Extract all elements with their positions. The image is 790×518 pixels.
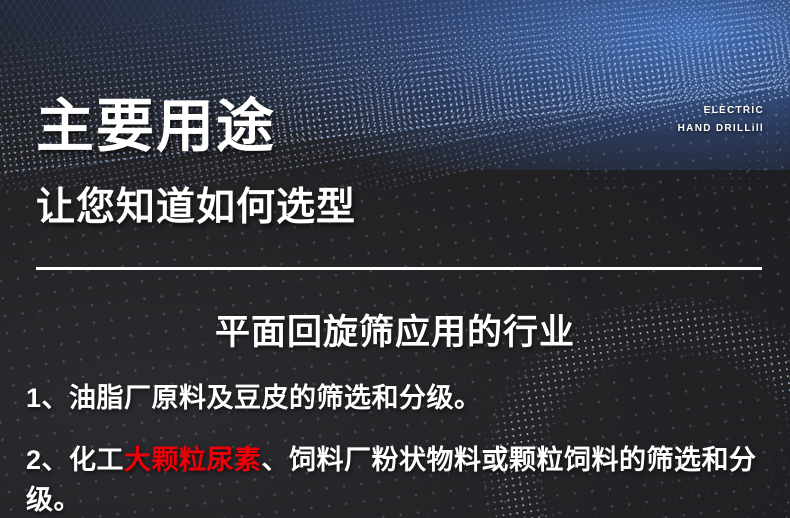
list-item: 1、油脂厂原料及豆皮的筛选和分级。 [26, 378, 772, 418]
horizontal-divider [36, 267, 762, 270]
application-list: 1、油脂厂原料及豆皮的筛选和分级。 2、化工大颗粒尿素、饲料厂粉状物料或颗粒饲料… [26, 378, 772, 518]
promo-poster: ELECTRIC HAND DRILLill 主要用途 让您知道如何选型 平面回… [0, 0, 790, 518]
watermark-line-1: ELECTRIC [678, 102, 764, 120]
list-item-index: 2、 [26, 445, 69, 475]
list-item-highlight: 大颗粒尿素 [124, 445, 262, 475]
section-heading: 平面回旋筛应用的行业 [0, 304, 790, 355]
brand-watermark: ELECTRIC HAND DRILLill [678, 102, 764, 138]
page-title: 主要用途 [36, 98, 276, 156]
watermark-line-2: HAND DRILLill [678, 120, 764, 138]
page-subtitle: 让您知道如何选型 [36, 186, 356, 231]
list-item-text: 油脂厂原料及豆皮的筛选和分级。 [69, 383, 482, 413]
list-item-index: 1、 [26, 383, 69, 413]
poster-content: ELECTRIC HAND DRILLill 主要用途 让您知道如何选型 平面回… [0, 0, 790, 518]
list-item-text: 化工 [69, 445, 124, 475]
list-item: 2、化工大颗粒尿素、饲料厂粉状物料或颗粒饲料的筛选和分级。 [26, 440, 772, 518]
